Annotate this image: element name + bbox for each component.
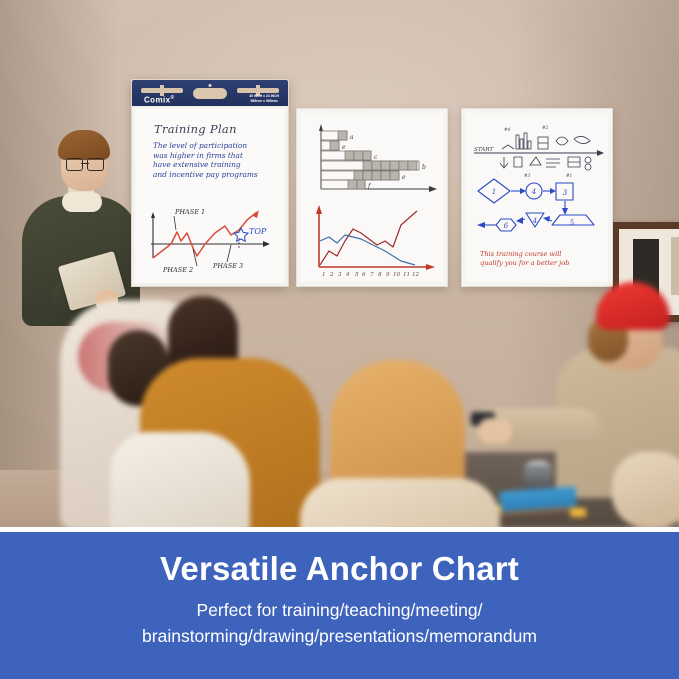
attendee-right-garment [612,452,679,527]
banner-title: Versatile Anchor Chart [160,550,519,588]
audience-foreground [0,0,679,527]
pen-right [570,508,586,517]
caption-banner: Versatile Anchor Chart Perfect for train… [0,532,679,679]
photo-scene: Comix® 30 INCH x 23 INCH 585mm x 585mm T… [0,0,679,527]
attendee-white-garment [110,432,250,527]
banner-subtitle-line-1: Perfect for training/teaching/meeting/ [142,597,537,623]
attendee-blonde-shoulder [300,478,500,527]
banner-subtitle-line-2: brainstorming/drawing/presentations/memo… [142,623,537,649]
attendee-hand [478,418,512,444]
red-beanie [596,282,670,330]
banner-subtitle: Perfect for training/teaching/meeting/ b… [142,597,537,649]
product-image: Comix® 30 INCH x 23 INCH 585mm x 585mm T… [0,0,679,679]
